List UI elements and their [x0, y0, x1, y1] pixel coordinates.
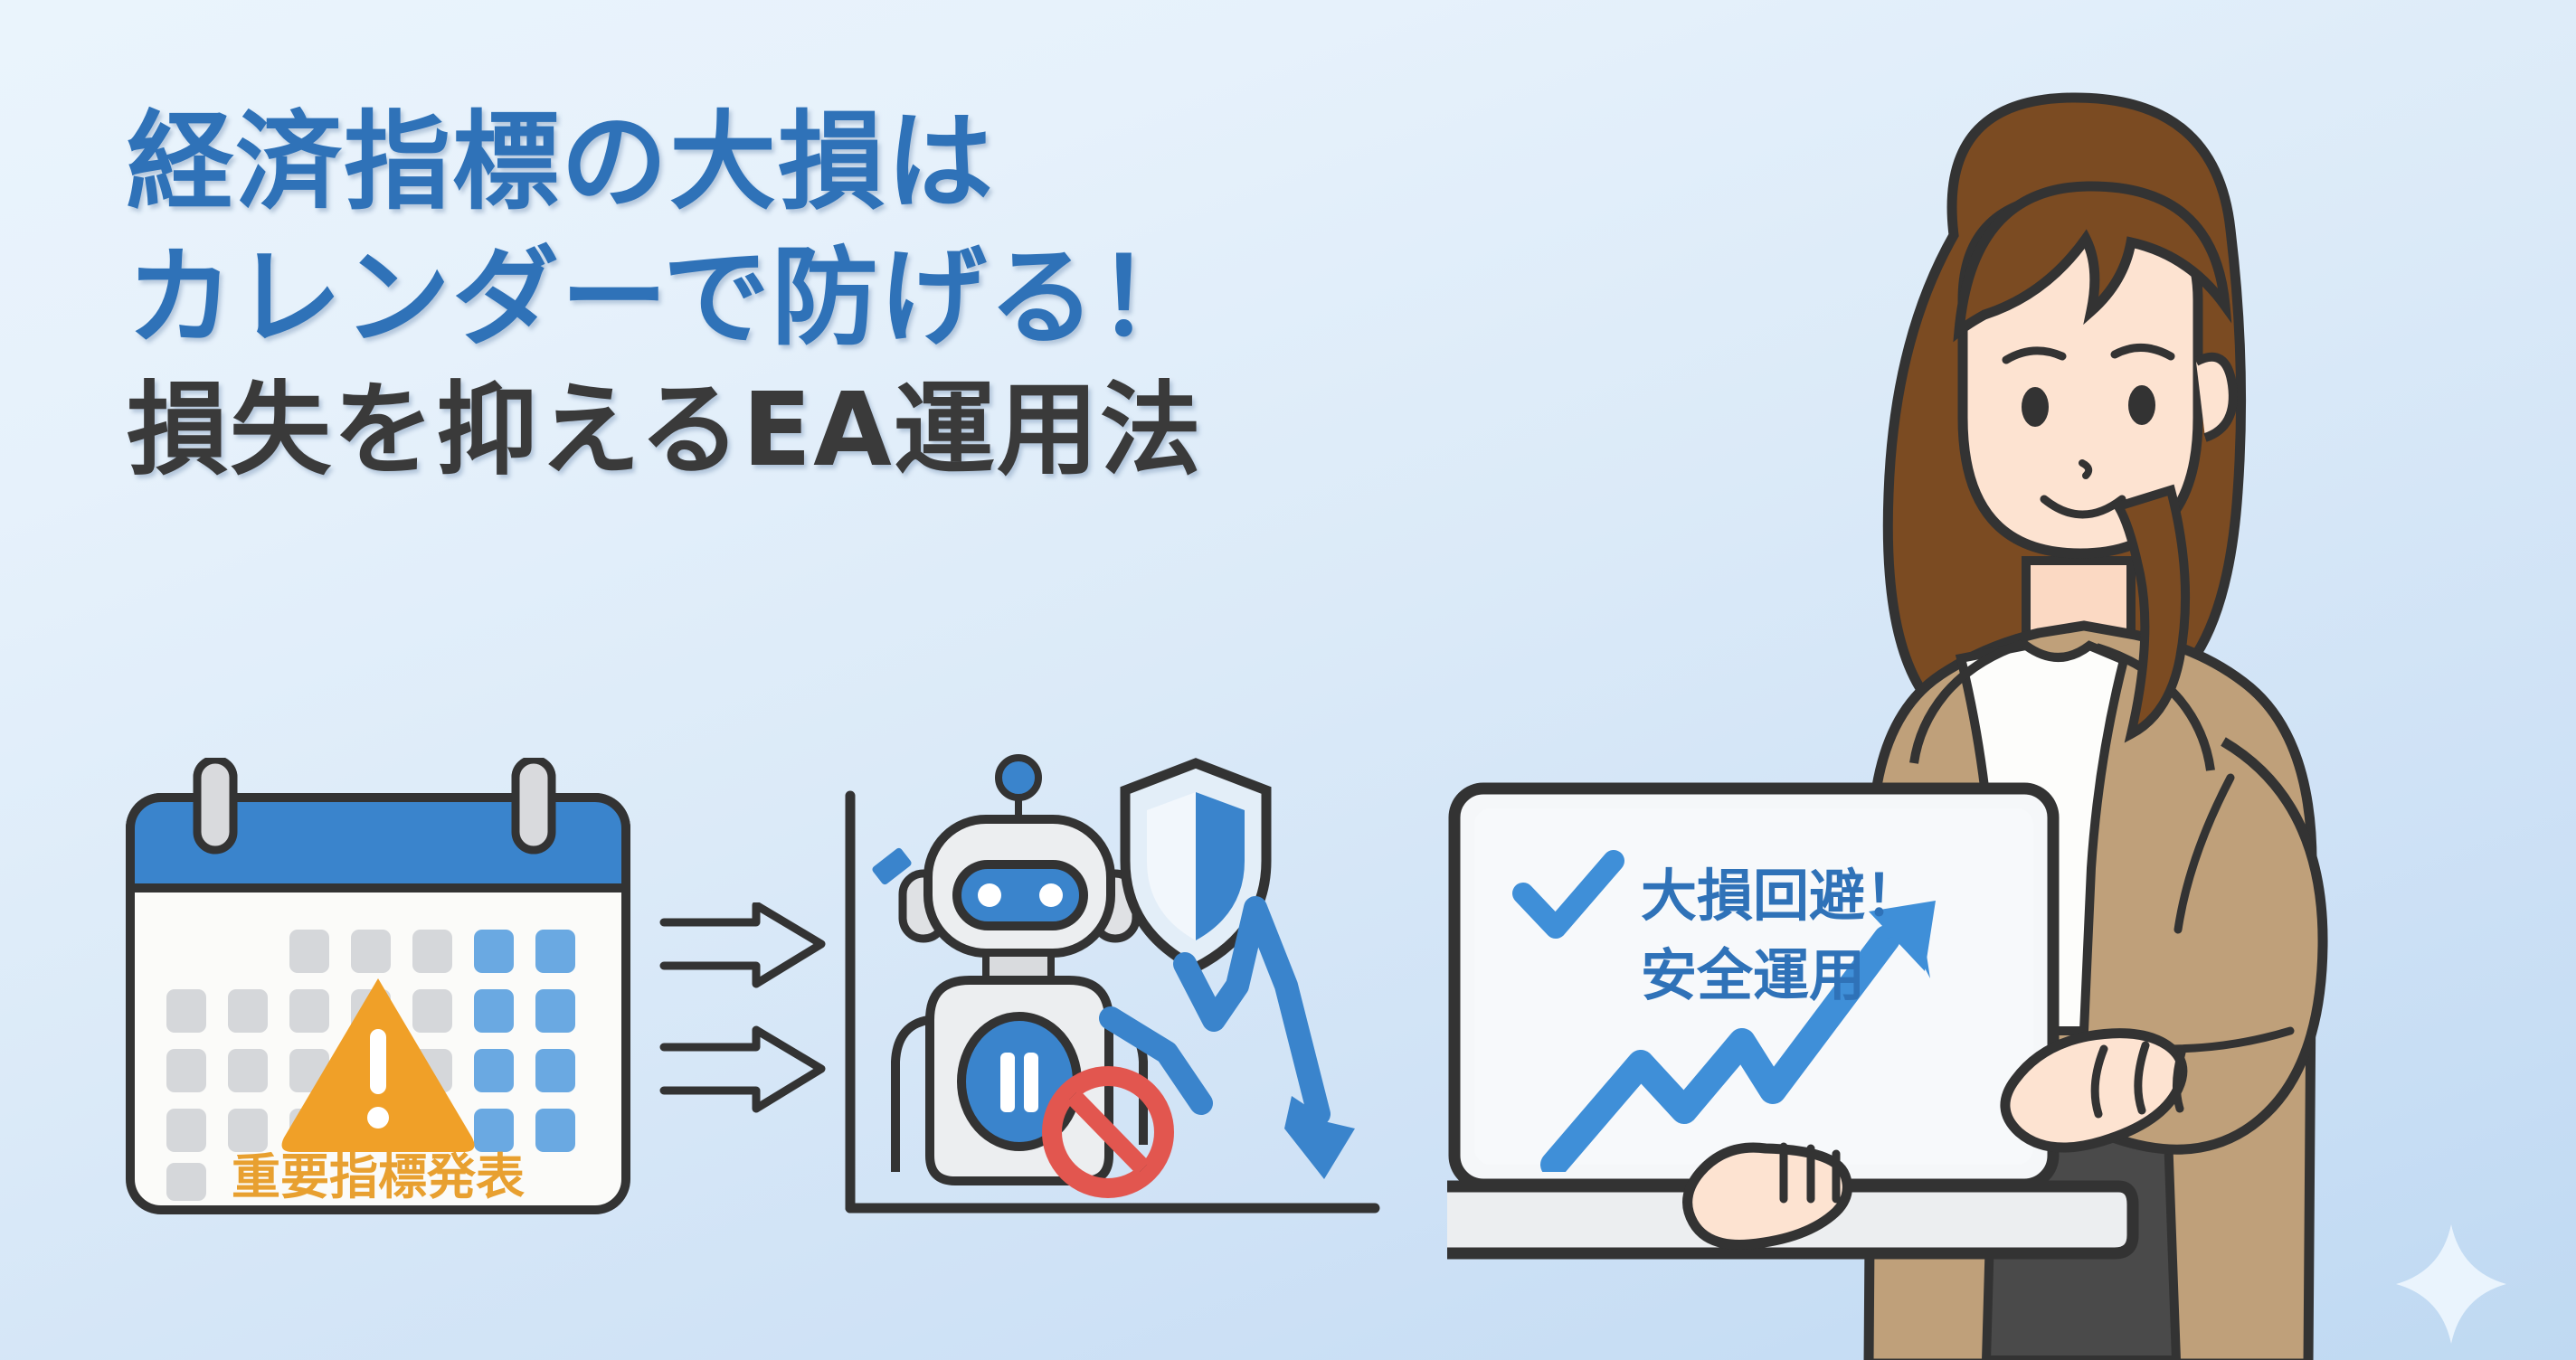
poster-canvas: 経済指標の大損は カレンダーで防げる！ 損失を抑えるEA運用法: [0, 0, 2576, 1360]
svg-text:安全運用: 安全運用: [1641, 942, 1865, 1008]
calendar-illustration: 重要指標発表: [118, 758, 678, 1228]
eye-right: [2128, 385, 2155, 425]
eye-left: [2022, 387, 2049, 427]
arrow-right-icon-1: [664, 905, 821, 984]
robot-scene: [812, 749, 1400, 1230]
svg-text:大損回避！: 大損回避！: [1641, 863, 1921, 929]
arrow-right-icon-2: [664, 1030, 821, 1109]
sparkle-icon: [2392, 1221, 2510, 1347]
calendar-caption: 重要指標発表: [232, 1148, 525, 1205]
person-with-laptop: 大損回避！ 安全運用: [1447, 90, 2576, 1360]
